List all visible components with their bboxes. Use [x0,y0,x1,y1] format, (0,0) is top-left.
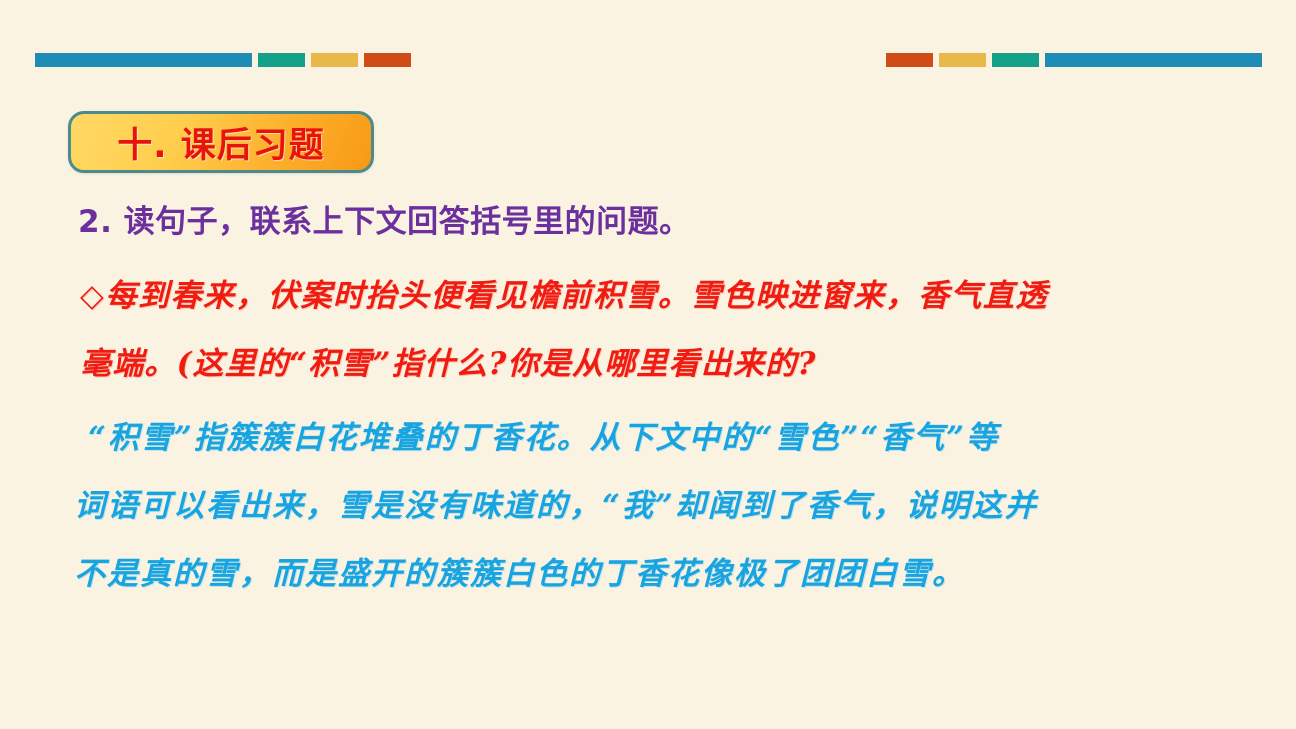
slide-content: 2. 读句子，联系上下文回答括号里的问题。 ◇每到春来，伏案时抬头便看见檐前积雪… [0,196,1296,608]
quote-line-2: 毫端。(这里的“积雪”指什么?你是从哪里看出来的? [80,330,1256,398]
section-title-text: 十. 课后习题 [117,117,324,168]
decor-bar-yellow-right [939,53,986,67]
section-title-badge: 十. 课后习题 [68,111,374,173]
answer-line-1: “积雪”指簇簇白花堆叠的丁香花。从下文中的“雪色”“香气”等 [88,404,1256,472]
decor-bar-orange-left [364,53,411,67]
answer-passage: “积雪”指簇簇白花堆叠的丁香花。从下文中的“雪色”“香气”等 词语可以看出来，雪… [0,404,1296,608]
decor-bars-right [886,53,1262,67]
quoted-passage: ◇每到春来，伏案时抬头便看见檐前积雪。雪色映进窗来，香气直透 毫端。(这里的“积… [0,262,1296,398]
slide-root: { "slide": { "background_color": "#faf3e… [0,0,1296,729]
question-prompt: 2. 读句子，联系上下文回答括号里的问题。 [0,196,1296,248]
decor-bar-orange-right [886,53,933,67]
quote-line-1: ◇每到春来，伏案时抬头便看见檐前积雪。雪色映进窗来，香气直透 [80,262,1256,330]
decor-bar-teal-left [258,53,305,67]
answer-line-2: 词语可以看出来，雪是没有味道的，“我”却闻到了香气，说明这并 [74,472,1256,540]
decor-bar-teal-right [992,53,1039,67]
decor-bar-yellow-left [311,53,358,67]
answer-line-3: 不是真的雪，而是盛开的簇簇白色的丁香花像极了团团白雪。 [74,540,1256,608]
decor-bar-blue-long-left [35,53,252,67]
decor-bars-left [35,53,411,67]
decor-bar-blue-long-right [1045,53,1262,67]
